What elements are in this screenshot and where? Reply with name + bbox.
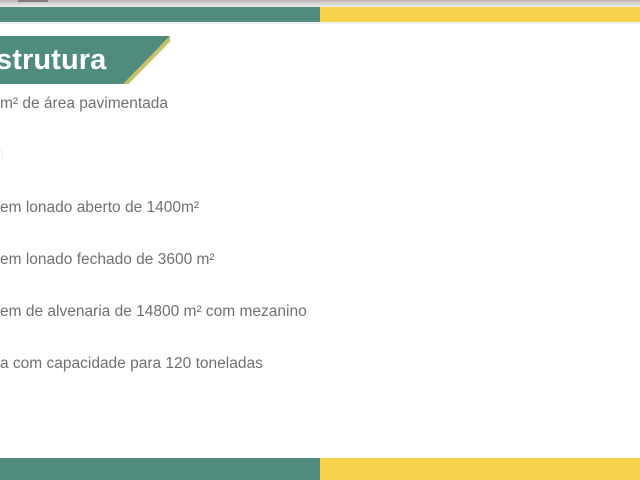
body-line-text: l [0, 144, 3, 168]
top-band-underline [0, 22, 640, 24]
body-line-text: em lonado aberto de 1400m² [0, 196, 199, 220]
body-line: a com capacidade para 120 toneladas [0, 352, 640, 404]
slide-body: m² de área pavimentada l em lonado abert… [0, 92, 640, 404]
top-band-yellow-segment [320, 7, 640, 22]
body-line-text: m² de área pavimentada [0, 92, 168, 116]
bottom-band-teal-segment [0, 458, 320, 480]
bottom-band-yellow-segment [320, 458, 640, 480]
top-band-teal-segment [0, 7, 320, 22]
slide-canvas: strutura m² de área pavimentada l em lon… [0, 0, 640, 480]
body-line: em de alvenaria de 14800 m² com mezanino [0, 300, 640, 352]
title-banner: strutura [0, 36, 170, 84]
body-line-text: em lonado fechado de 3600 m² [0, 248, 215, 272]
slide-title: strutura [0, 46, 106, 75]
body-line: m² de área pavimentada [0, 92, 640, 144]
body-line-text: em de alvenaria de 14800 m² com mezanino [0, 300, 307, 324]
viewer-chrome-strip [0, 0, 640, 7]
body-line-text: a com capacidade para 120 toneladas [0, 352, 263, 376]
body-line: em lonado aberto de 1400m² [0, 196, 640, 248]
body-line: em lonado fechado de 3600 m² [0, 248, 640, 300]
bottom-color-band [0, 458, 640, 480]
top-color-band [0, 7, 640, 22]
body-line: l [0, 144, 640, 196]
viewer-chrome-fleck [18, 0, 48, 2]
